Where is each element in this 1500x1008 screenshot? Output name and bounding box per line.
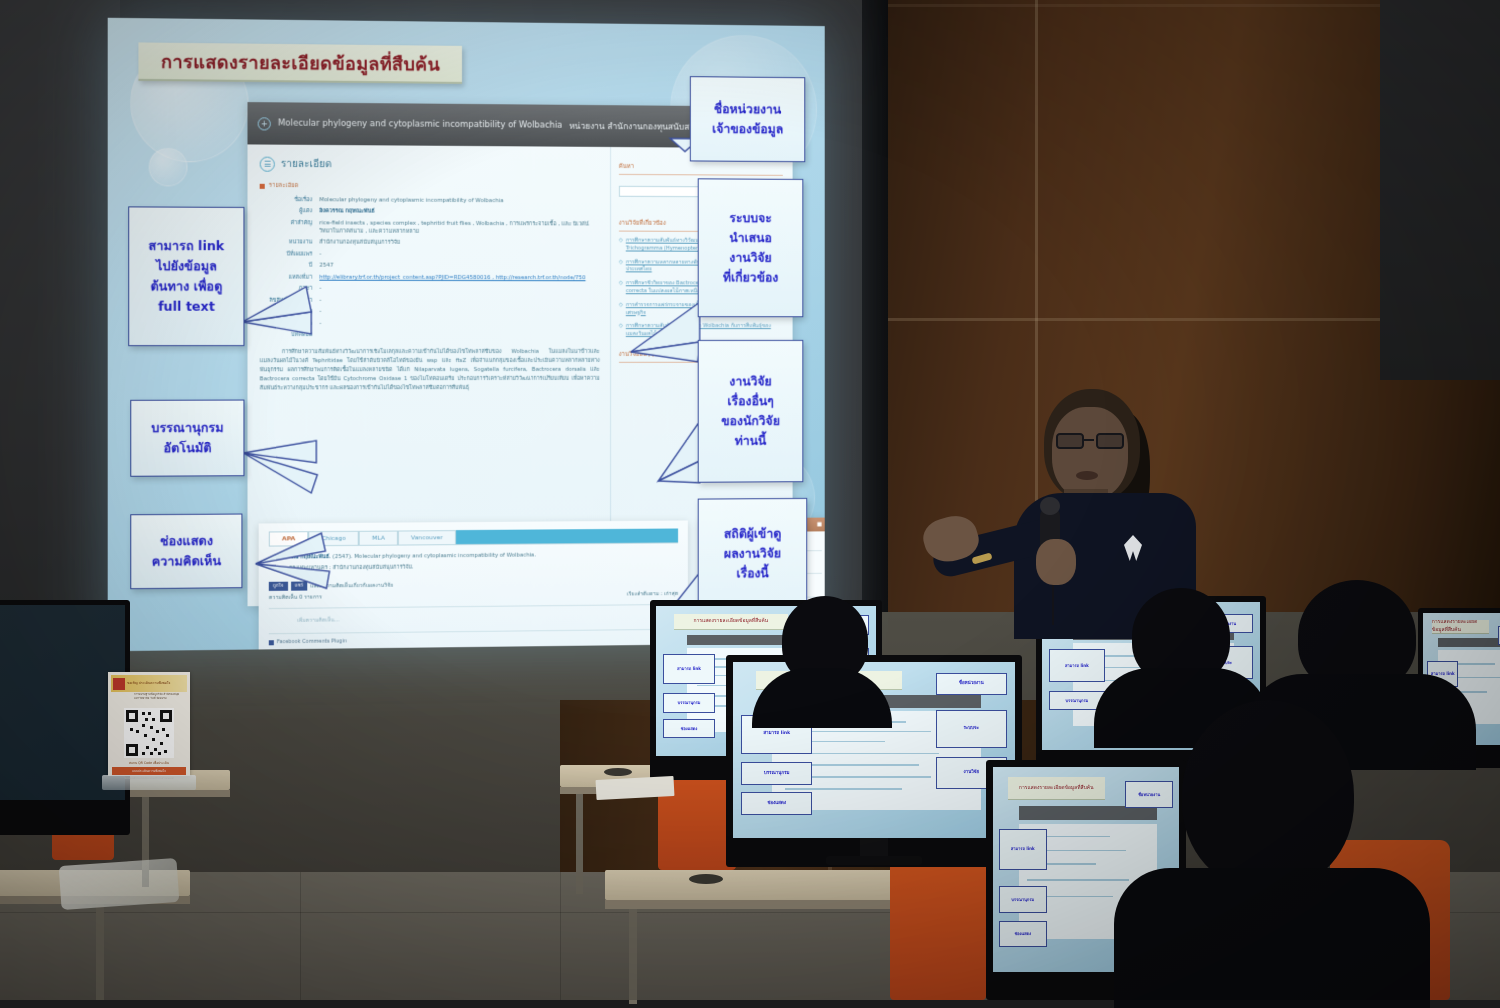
tag-chip-icon — [260, 183, 265, 188]
mini-callout: ชื่อหน่วยงาน — [936, 673, 1007, 696]
chair-front-right — [890, 846, 986, 1000]
mini-callout: สามารถ link — [1049, 649, 1106, 682]
callout-line: นำเสนอ — [729, 228, 772, 248]
tag-label: รายละเอียด — [269, 182, 299, 190]
close-icon[interactable]: ■ — [817, 522, 822, 528]
facebook-plugin-label: Facebook Comments Plugin — [269, 635, 678, 646]
callout-related-research: ระบบจะ นำเสนอ งานวิจัย ที่เกี่ยวข้อง — [698, 178, 804, 317]
metadata-key: แหล่งที่มา — [260, 274, 313, 282]
decorative-circle — [149, 148, 188, 187]
mini-callout: ช่องแสดง — [663, 719, 716, 739]
qr-code-stand: ขอเชิญ ประเมินความพึงพอใจ การอบรมฐานข้อม… — [108, 672, 190, 790]
metadata-row: ความเชี่ยวชาญ- — [260, 309, 600, 317]
glasses-icon — [1056, 433, 1128, 449]
classroom-scene: การแสดงรายละเอียดข้อมูลที่สืบค้น + Molec… — [0, 0, 1500, 1000]
like-button[interactable]: ถูกใจ — [269, 582, 288, 591]
citation-card: APA Chicago MLA Vancouver อิงควรรณ กฤษณะ… — [259, 520, 688, 651]
citation-source: กรุงเทพมหานคร : สำนักงานกองทุนสนับสนุนกา… — [289, 561, 672, 573]
tab-vancouver[interactable]: Vancouver — [398, 530, 456, 544]
student-4 — [1138, 700, 1398, 1000]
metadata-row: ปี2547 — [260, 263, 600, 272]
metadata-value: rice-field insects , species complex , t… — [319, 220, 599, 237]
metadata-value — [319, 332, 599, 340]
presenter-hand-holding-mic — [1036, 539, 1076, 585]
comment-sort[interactable]: เรียงลำดับตาม : เก่าสุด — [627, 590, 678, 598]
citation-text: อิงควรรณ กฤษณะพันธ์. (2547). Molecular p… — [269, 543, 678, 573]
metadata-key: บทคัดย่อ — [260, 332, 313, 340]
metadata-key: ปี — [260, 263, 313, 271]
callout-line: เรื่องอื่นๆ — [727, 391, 773, 411]
related-research-item[interactable]: ◇การศึกษาความสัมพันธ์ระหว่างเชื้อ Wolbac… — [619, 323, 783, 339]
comment-placeholder: เพิ่มความคิดเห็น... — [297, 617, 339, 625]
metadata-row: ชื่อเรื่องMolecular phylogeny and cytopl… — [260, 197, 600, 207]
callout-source-link: สามารถ link ไปยังข้อมูล ต้นทาง เพื่อดู f… — [128, 206, 244, 346]
link-icon: ◇ — [619, 323, 623, 339]
related-research-link[interactable]: การศึกษาความสัมพันธ์ระหว่างเชื้อ Wolbach… — [626, 323, 783, 339]
mini-callout: บรรณานุกรม — [663, 693, 716, 713]
tab-chicago[interactable]: Chicago — [308, 531, 359, 545]
callout-line: สถิติผู้เข้าดู — [724, 523, 781, 543]
mini-callout: ระบบจะ — [936, 710, 1007, 749]
list-icon: ☰ — [260, 157, 275, 172]
student-1 — [752, 596, 892, 716]
section-heading: รายละเอียด — [281, 157, 332, 172]
metadata-row-source: แหล่งที่มาhttp://elibrary.trf.or.th/proj… — [260, 274, 600, 283]
metadata-value: 2547 — [319, 263, 599, 272]
metadata-key: หน่วยงาน — [260, 240, 313, 248]
metadata-list: ชื่อเรื่องMolecular phylogeny and cytopl… — [260, 197, 600, 340]
metadata-row: กลุ่มของข้อมูล- — [260, 321, 600, 329]
citation-rest: . (2547). Molecular phylogeny and cytopl… — [329, 552, 536, 560]
metadata-row: ภาษา- — [260, 286, 600, 295]
callout-line: ของนักวิจัย — [721, 411, 780, 431]
qr-poster-header: ขอเชิญ ประเมินความพึงพอใจ — [111, 675, 187, 692]
metadata-key: ความเชี่ยวชาญ — [260, 309, 313, 317]
mini-callout: สามารถ link — [663, 654, 716, 684]
callout-line: บรรณานุกรม — [151, 418, 223, 439]
mini-callout: บรรณานุกรม — [999, 886, 1047, 913]
left-wall-panel — [0, 0, 120, 620]
callout-line: งานวิจัย — [729, 248, 771, 268]
facebook-icon — [269, 640, 274, 645]
tab-mla[interactable]: MLA — [359, 531, 398, 545]
slide-title: การแสดงรายละเอียดข้อมูลที่สืบค้น — [138, 42, 462, 83]
plugin-text: Facebook Comments Plugin — [277, 639, 347, 646]
comment-input[interactable]: เพิ่มความคิดเห็น... — [269, 604, 678, 634]
metadata-key: ผู้แต่ง — [260, 208, 313, 216]
metadata-value: สำนักงานกองทุนสนับสนุนการวิจัย — [319, 240, 599, 249]
qr-poster-subtitle: การอบรมฐานข้อมูลวิจัย สำนักหอสมุด มหาวิท… — [134, 693, 187, 701]
metadata-value: - — [319, 286, 599, 294]
tab-filler — [456, 528, 678, 544]
presenter-mouth — [1076, 471, 1098, 480]
library-logo-icon — [113, 678, 125, 690]
search-label: ค้นหา — [619, 161, 783, 172]
presenter-face — [1052, 407, 1128, 499]
callout-line: ความคิดเห็น — [152, 551, 222, 572]
callout-line: ต้นทาง เพื่อดู — [150, 276, 222, 297]
citation-author: อิงควรรณ กฤษณะพันธ์ — [275, 554, 329, 560]
tab-apa[interactable]: APA — [269, 531, 309, 545]
record-tag: รายละเอียด — [260, 182, 600, 192]
callout-line: ท่านนี้ — [735, 431, 767, 451]
metadata-value: Molecular phylogeny and cytoplasmic inco… — [319, 197, 599, 206]
mini-callout: บรรณานุกรม — [741, 762, 812, 785]
metadata-value: - — [319, 321, 599, 329]
qr-code-icon — [124, 708, 174, 758]
callout-auto-bibliography: บรรณานุกรม อัตโนมัติ — [130, 400, 244, 477]
wall-pillar — [862, 0, 888, 620]
callout-line: ผลงานวิจัย — [724, 543, 781, 564]
right-grey-wall — [1380, 0, 1500, 380]
mini-slide-title: การแสดงรายละเอียดข้อมูลที่สืบค้น — [1008, 777, 1105, 800]
link-icon: ◇ — [619, 280, 623, 296]
callout-line: ชื่อหน่วยงาน — [714, 99, 781, 120]
qr-poster-title: ขอเชิญ ประเมินความพึงพอใจ — [127, 681, 170, 685]
callout-line: ช่องแสดง — [160, 531, 213, 552]
qr-poster: ขอเชิญ ประเมินความพึงพอใจ การอบรมฐานข้อม… — [108, 672, 190, 776]
metadata-row: ผู้แต่งอิงควรรณ กฤษณะพันธ์ — [260, 208, 600, 218]
metadata-key: ปีที่เผยแพร่ — [260, 251, 313, 259]
metadata-key: กลุ่มของข้อมูล — [260, 321, 313, 329]
callout-line: สามารถ link — [148, 235, 224, 256]
callout-comment-box: ช่องแสดง ความคิดเห็น — [130, 514, 242, 590]
metadata-key: คำสำคัญ — [260, 220, 313, 236]
callout-other-works: งานวิจัย เรื่องอื่นๆ ของนักวิจัย ท่านนี้ — [698, 340, 804, 483]
record-title-th: หน่วยงาน สำนักงานกองทุนสนับสนุน — [569, 119, 700, 134]
metadata-value: - — [319, 251, 599, 260]
metadata-value: - — [319, 309, 599, 317]
callout-line: เรื่องนี้ — [736, 564, 768, 584]
comment-count: ความคิดเห็น 0 รายการ — [269, 594, 322, 603]
acrylic-stand-base — [102, 775, 196, 790]
callout-owner-agency: ชื่อหน่วยงาน เจ้าของข้อมูล — [690, 76, 805, 162]
metadata-key: ชื่อเรื่อง — [260, 197, 313, 205]
link-icon: ◇ — [619, 302, 623, 318]
mini-callout: สามารถ link — [999, 829, 1047, 870]
callout-line: ที่เกี่ยวข้อง — [723, 268, 778, 288]
metadata-value: อิงควรรณ กฤษณะพันธ์ — [319, 209, 599, 218]
desk-center-front — [605, 870, 925, 1000]
metadata-row: บทคัดย่อ — [260, 332, 600, 340]
metadata-value: - — [319, 298, 599, 306]
callout-line: full text — [158, 297, 215, 318]
metadata-row: หน่วยงานสำนักงานกองทุนสนับสนุนการวิจัย — [260, 240, 600, 249]
metadata-row: ปีที่เผยแพร่- — [260, 251, 600, 260]
callout-view-stats: สถิติผู้เข้าดู ผลงานวิจัย เรื่องนี้ — [698, 498, 807, 610]
plastic-bag — [59, 858, 180, 910]
source-link[interactable]: http://elibrary.trf.or.th/project_conten… — [319, 274, 599, 283]
mini-callout: ช่องแสดง — [741, 792, 812, 815]
link-icon: ◇ — [619, 238, 623, 254]
mini-record-bar — [1019, 806, 1157, 820]
plus-circle-icon: + — [258, 117, 271, 130]
callout-line: ไปยังข้อมูล — [156, 256, 217, 277]
abstract-text: การศึกษาความสัมพันธ์ทางวิวัฒนาการเชิงโมเ… — [260, 348, 600, 393]
metadata-key: ลิขสิทธิ์/สาขาวิชา — [260, 297, 313, 305]
metadata-row: คำสำคัญrice-field insects , species comp… — [260, 220, 600, 237]
qr-band-label: แบบประเมินความพึงพอใจ — [112, 767, 186, 775]
qr-caption: สแกน QR Code เพื่อประเมิน — [112, 761, 186, 766]
callout-line: งานวิจัย — [729, 371, 771, 391]
metadata-row: ลิขสิทธิ์/สาขาวิชา- — [260, 297, 600, 305]
comment-note: แสดงความคิดเห็นเกี่ยวกับผลงานวิจัย — [310, 581, 393, 590]
divider — [619, 174, 783, 176]
social-row: ถูกใจ แชร์ แสดงความคิดเห็นเกี่ยวกับผลงาน… — [269, 578, 678, 591]
record-title-en: Molecular phylogeny and cytoplasmic inco… — [278, 118, 562, 130]
link-icon: ◇ — [619, 259, 623, 275]
mini-callout: ช่องแสดง — [999, 921, 1047, 948]
floor-tile-line — [300, 872, 301, 1000]
callout-line: เจ้าของข้อมูล — [712, 119, 783, 140]
papers-on-desk — [596, 776, 675, 800]
microphone-icon — [1040, 497, 1060, 515]
metadata-key: ภาษา — [260, 286, 313, 294]
presentation-slide: การแสดงรายละเอียดข้อมูลที่สืบค้น + Molec… — [108, 18, 825, 651]
share-button[interactable]: แชร์ — [291, 582, 308, 591]
callout-line: อัตโนมัติ — [163, 438, 211, 459]
callout-line: ระบบจะ — [729, 208, 771, 228]
projection-screen: การแสดงรายละเอียดข้อมูลที่สืบค้น + Molec… — [108, 18, 825, 651]
